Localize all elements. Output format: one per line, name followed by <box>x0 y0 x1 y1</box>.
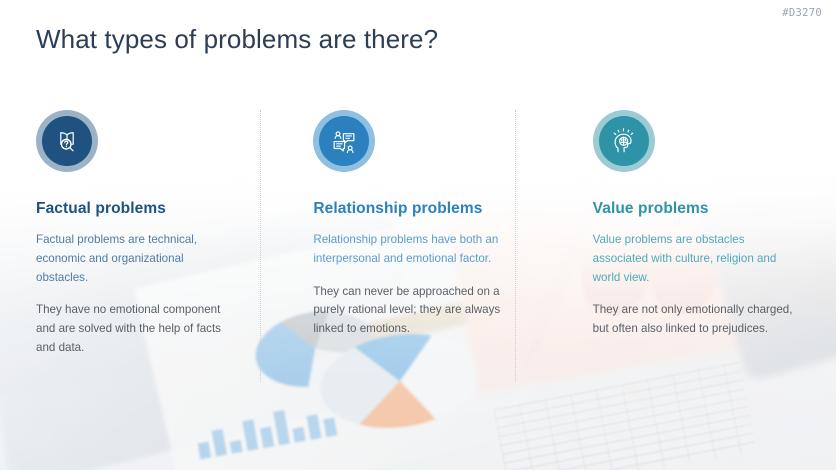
column-factual-problems: Factual problems Factual problems are te… <box>36 110 279 372</box>
column-paragraph-muted: They have no emotional component and are… <box>36 301 236 357</box>
icon-inner-circle <box>599 116 649 166</box>
column-paragraph-accent: Relationship problems have both an inter… <box>313 231 513 269</box>
column-paragraph-muted: They are not only emotionally charged, b… <box>593 301 793 339</box>
slide-id-tag: #D3270 <box>782 7 822 19</box>
icon-inner-circle <box>319 116 369 166</box>
page-title: What types of problems are there? <box>36 24 438 55</box>
column-heading: Value problems <box>593 200 816 218</box>
column-paragraph-muted: They can never be approached on a purely… <box>313 283 513 339</box>
columns-container: Factual problems Factual problems are te… <box>0 110 836 372</box>
icon-inner-circle <box>42 116 92 166</box>
column-relationship-problems: Relationship problems Relationship probl… <box>313 110 556 372</box>
column-value-problems: Value problems Value problems are obstac… <box>593 110 836 372</box>
column-heading: Relationship problems <box>313 200 536 218</box>
column-paragraph-accent: Value problems are obstacles associated … <box>593 231 793 287</box>
slide-content: #D3270 What types of problems are there? <box>0 0 836 470</box>
column-heading: Factual problems <box>36 200 259 218</box>
slide: #D3270 What types of problems are there? <box>0 0 836 470</box>
people-speech-bubbles-icon <box>313 110 375 172</box>
head-brain-idea-icon <box>593 110 655 172</box>
column-paragraph-accent: Factual problems are technical, economic… <box>36 231 236 287</box>
book-magnifier-question-icon <box>36 110 98 172</box>
